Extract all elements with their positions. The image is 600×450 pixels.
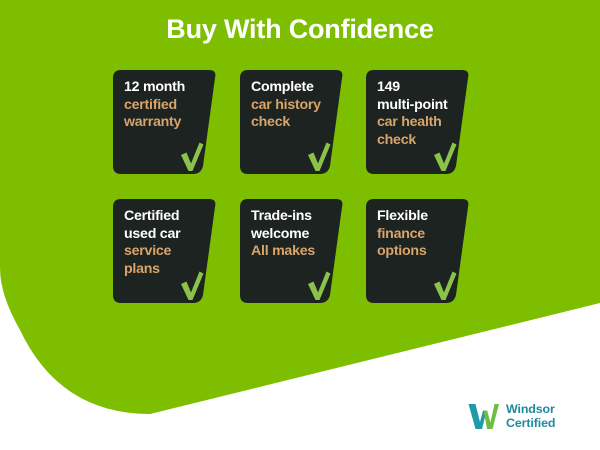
card-line: car health <box>377 114 473 132</box>
card-line: certified <box>124 97 220 115</box>
card-line: Flexible <box>377 208 473 226</box>
card-line: options <box>377 243 473 261</box>
card-line: service <box>124 243 220 261</box>
windsor-certified-logo: Windsor Certified <box>466 398 588 434</box>
card-complete-car-history-check: Completecar historycheck <box>240 70 353 183</box>
card-text: Certifiedused carserviceplans <box>124 208 220 278</box>
check-icon <box>306 271 332 301</box>
card-line: welcome <box>251 226 347 244</box>
card-12-month-certified-warranty: 12 monthcertifiedwarranty <box>113 70 226 183</box>
card-text: Completecar historycheck <box>251 79 347 132</box>
card-line: finance <box>377 226 473 244</box>
check-icon <box>179 271 205 301</box>
card-line: All makes <box>251 243 347 261</box>
card-line: multi-point <box>377 97 473 115</box>
card-text: Trade-inswelcomeAll makes <box>251 208 347 261</box>
card-line: car history <box>251 97 347 115</box>
check-icon <box>432 271 458 301</box>
check-icon <box>306 142 332 172</box>
card-line: used car <box>124 226 220 244</box>
logo-wordmark: Windsor Certified <box>506 402 555 431</box>
card-flexible-finance-options: Flexiblefinanceoptions <box>366 199 479 312</box>
check-icon <box>432 142 458 172</box>
card-trade-ins-welcome-all-makes: Trade-inswelcomeAll makes <box>240 199 353 312</box>
page-title: Buy With Confidence <box>0 13 600 45</box>
card-line: Complete <box>251 79 347 97</box>
card-line: 149 <box>377 79 473 97</box>
card-certified-used-car-service-plans: Certifiedused carserviceplans <box>113 199 226 312</box>
card-line: 12 month <box>124 79 220 97</box>
card-line: warranty <box>124 114 220 132</box>
logo-line-2: Certified <box>506 416 555 431</box>
card-line: Trade-ins <box>251 208 347 226</box>
card-line: check <box>251 114 347 132</box>
logo-line-1: Windsor <box>506 402 555 417</box>
card-line: check <box>377 132 473 150</box>
check-icon <box>179 142 205 172</box>
card-text: 12 monthcertifiedwarranty <box>124 79 220 132</box>
windsor-w-icon <box>466 401 500 431</box>
card-text: Flexiblefinanceoptions <box>377 208 473 261</box>
card-149-multi-point-car-health-check: 149multi-pointcar healthcheck <box>366 70 479 183</box>
card-line: plans <box>124 261 220 279</box>
card-line: Certified <box>124 208 220 226</box>
card-text: 149multi-pointcar healthcheck <box>377 79 473 149</box>
promo-banner: Buy With Confidence 12 monthcertifiedwar… <box>0 0 600 450</box>
